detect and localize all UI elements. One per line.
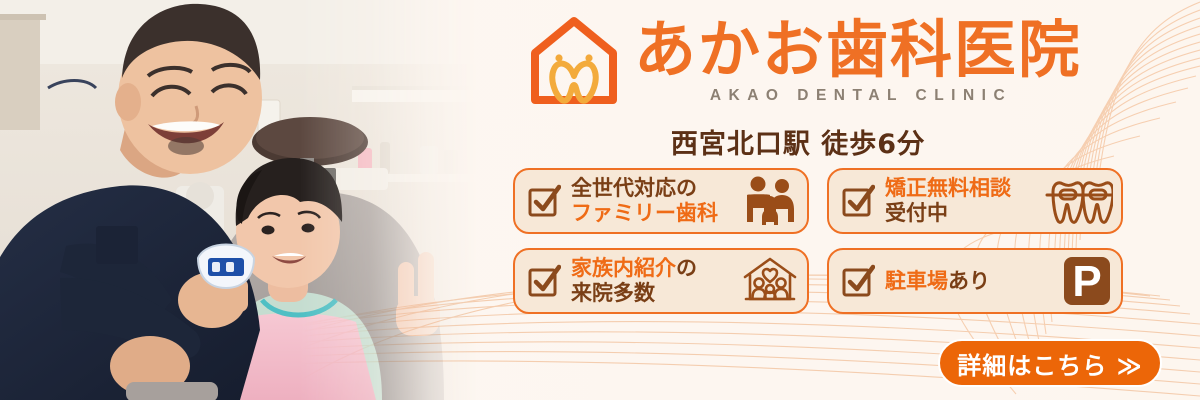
feature-line2: ファミリー歯科 xyxy=(571,201,737,226)
feature-line1-highlight: 駐車場 xyxy=(885,269,948,293)
svg-text:P: P xyxy=(1072,257,1101,306)
feature-line1-tail: の xyxy=(676,256,697,280)
feature-box-grid: 全世代対応の ファミリー歯科 矯正無料相談 xyxy=(513,168,1123,314)
station-access-text: 西宮北口駅 徒歩6分 xyxy=(528,122,1068,161)
checkbox-checked-icon xyxy=(841,264,875,298)
details-cta-button[interactable]: 詳細はこちら ≫ xyxy=(938,339,1162,387)
feature-line1: 全世代対応の xyxy=(571,176,737,201)
dentist-and-child-photo xyxy=(0,0,480,400)
braces-teeth-icon xyxy=(1043,175,1113,227)
feature-line2: 受付中 xyxy=(885,201,1039,226)
family-icon xyxy=(741,175,799,227)
clinic-logo[interactable]: あかお歯科医院 AKAO DENTAL CLINIC xyxy=(528,14,1082,108)
clinic-name-jp: あかお歯科医院 xyxy=(634,19,1082,81)
feature-box-family-referral[interactable]: 家族内紹介の 来院多数 xyxy=(513,248,809,314)
dental-clinic-banner[interactable]: あかお歯科医院 AKAO DENTAL CLINIC 西宮北口駅 徒歩6分 全世… xyxy=(0,0,1200,400)
clinic-name-en: AKAO DENTAL CLINIC xyxy=(640,88,1082,104)
feature-line2: 来院多数 xyxy=(571,281,737,306)
checkbox-checked-icon xyxy=(841,184,875,218)
feature-box-ortho-consultation[interactable]: 矯正無料相談 受付中 xyxy=(827,168,1123,234)
feature-line1: 駐車場あり xyxy=(885,269,1057,294)
feature-box-family-dentistry[interactable]: 全世代対応の ファミリー歯科 xyxy=(513,168,809,234)
feature-line1: 矯正無料相談 xyxy=(885,176,1039,201)
parking-p-icon: P xyxy=(1061,255,1113,307)
house-tooth-logo-icon xyxy=(528,14,620,108)
checkbox-checked-icon xyxy=(527,184,561,218)
house-family-icon xyxy=(741,255,799,307)
feature-line1-tail: あり xyxy=(948,269,990,293)
feature-line1-highlight: 家族内紹介 xyxy=(571,256,676,280)
feature-box-parking[interactable]: 駐車場あり P xyxy=(827,248,1123,314)
feature-line1: 家族内紹介の xyxy=(571,256,737,281)
checkbox-checked-icon xyxy=(527,264,561,298)
